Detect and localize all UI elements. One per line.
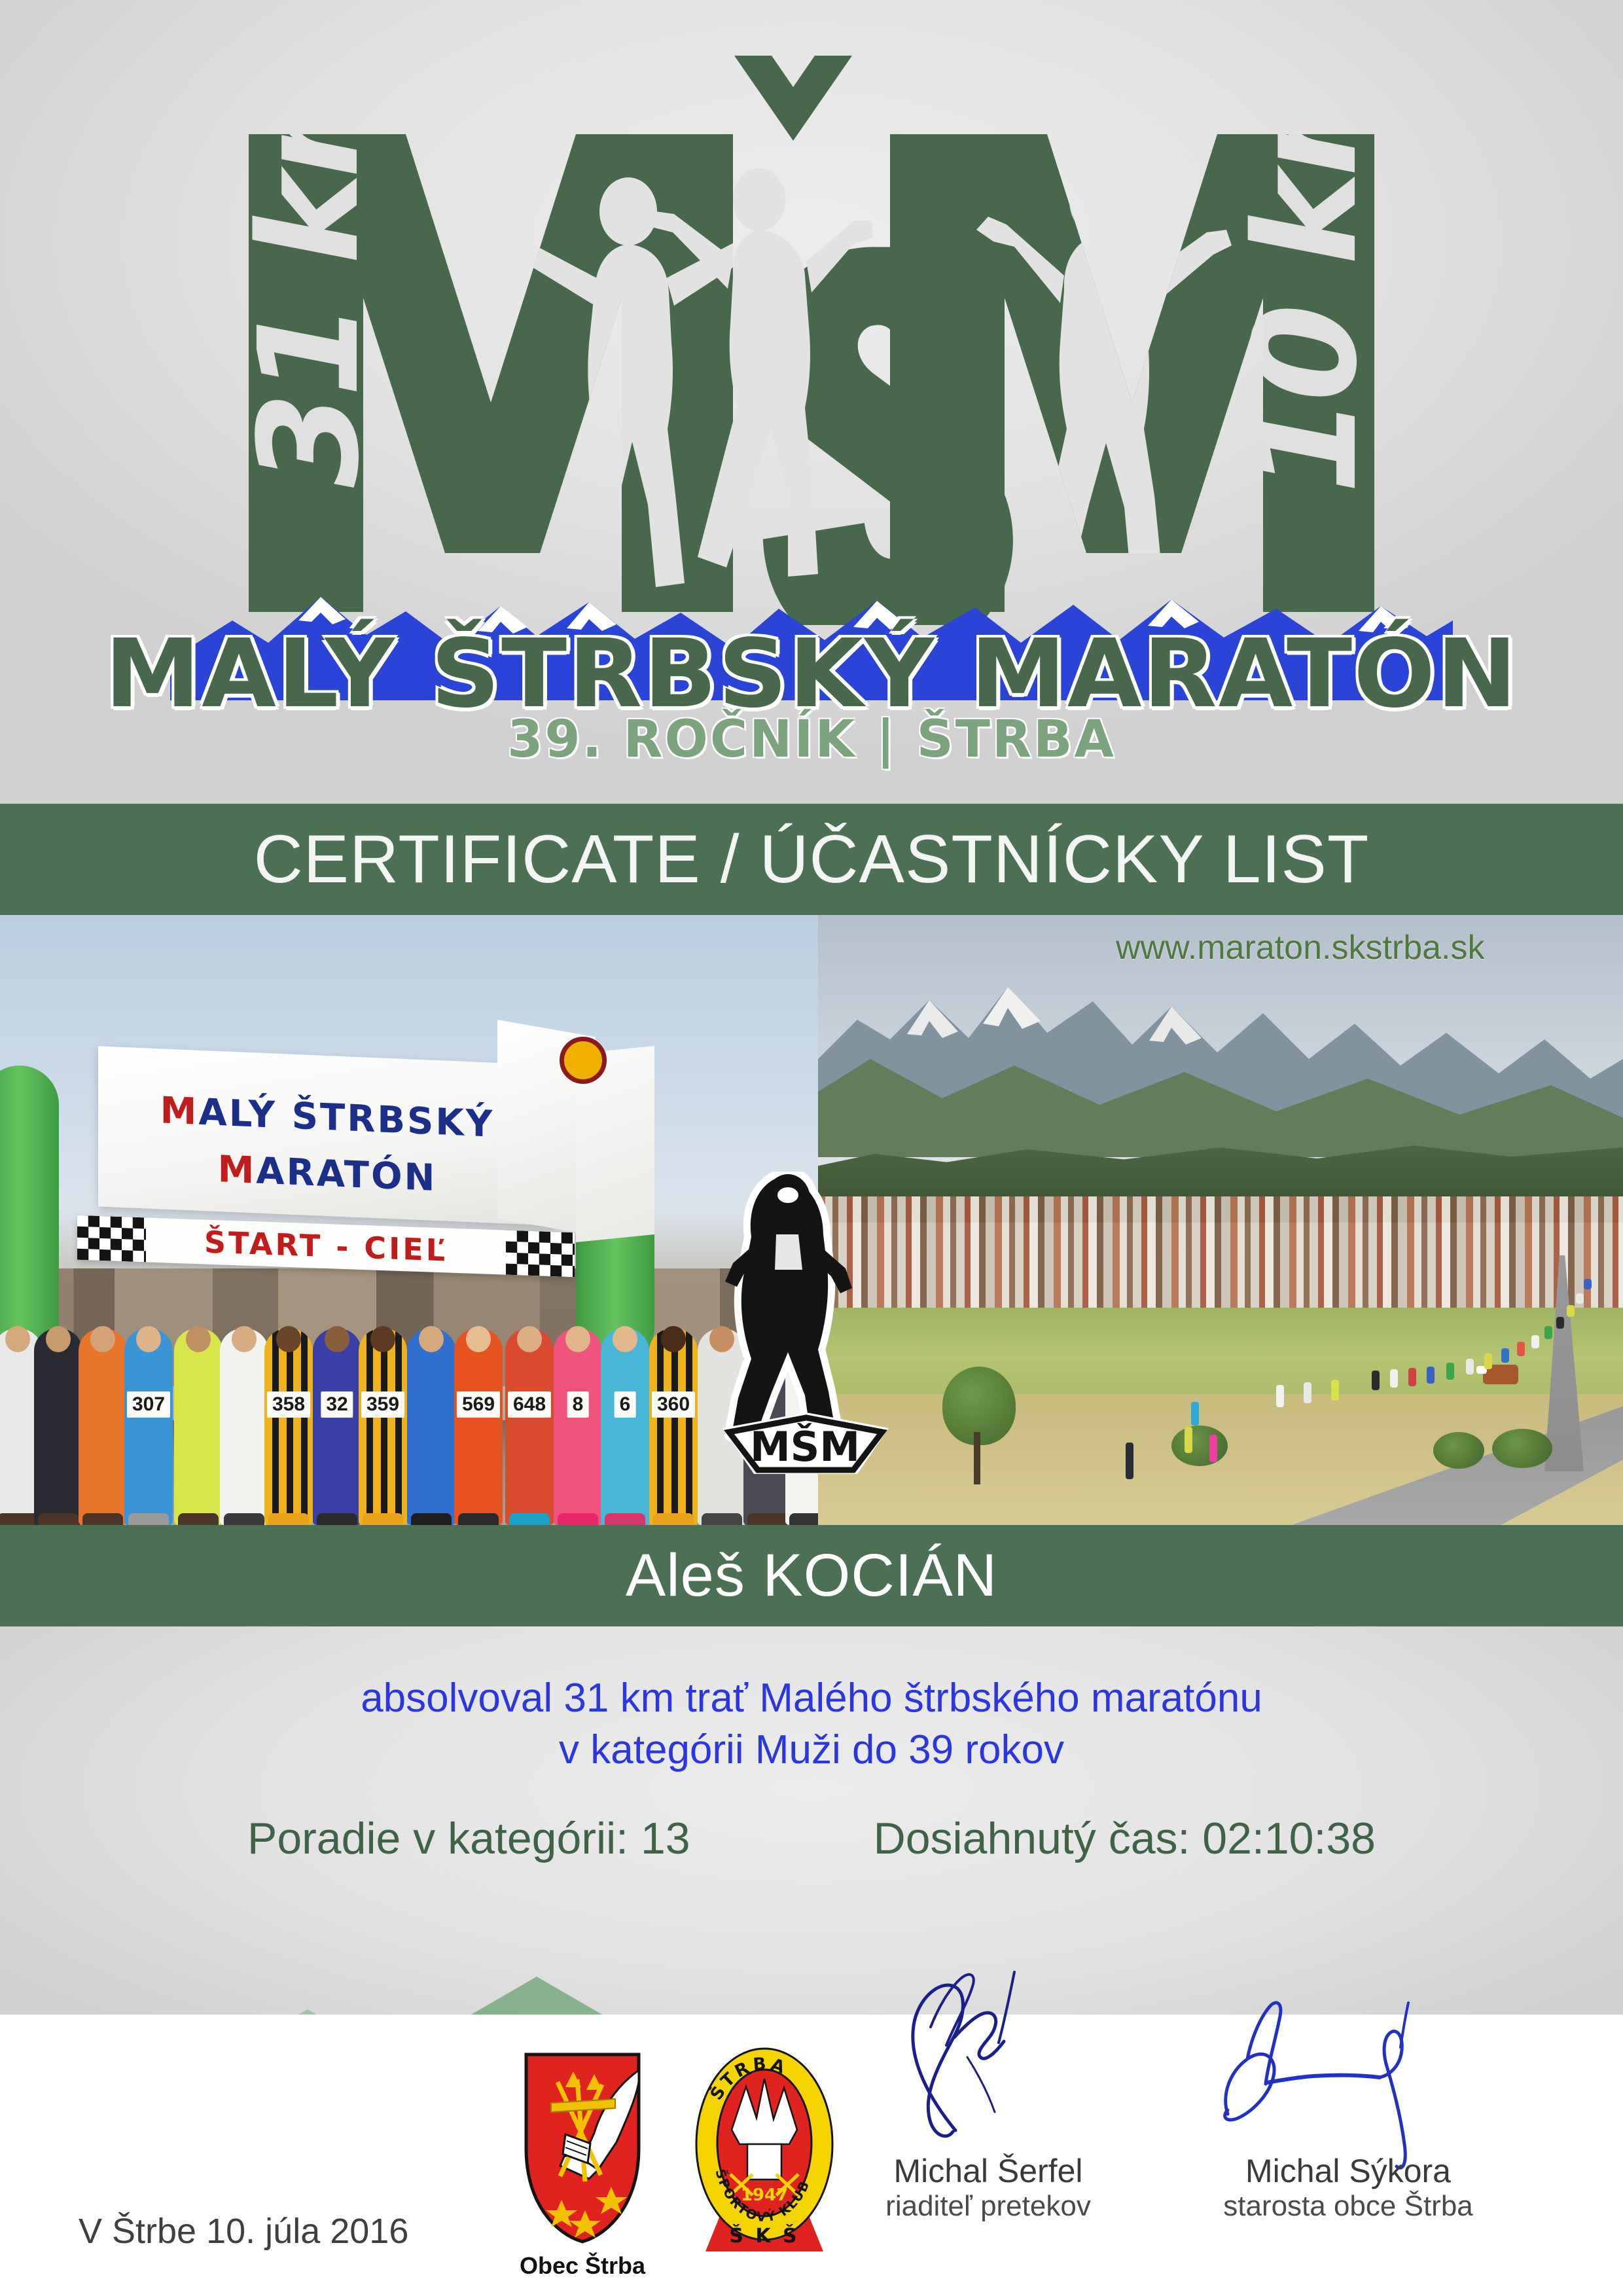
runner: [1576, 1293, 1584, 1304]
signature-mark-sykora: [1204, 1975, 1479, 2172]
club-badge: ŠTRBA ŠPORTOVÝ KLUB 1947 Š K Š: [692, 2046, 836, 2255]
club-badge-year: 1947: [741, 2185, 788, 2205]
bush: [1492, 1429, 1552, 1468]
runner: [1544, 1326, 1552, 1339]
signature-block-race-director: Michal Šerfel riaditeľ pretekov: [870, 2152, 1106, 2223]
category-rank: Poradie v kategórii: 13: [247, 1813, 690, 1864]
club-badge-initials: Š K Š: [729, 2223, 799, 2248]
event-subtitle: 39. ROČNÍK | ŠTRBA: [0, 710, 1623, 769]
certificate-page: 31 km: [0, 0, 1623, 2296]
certificate-title-band: CERTIFICATE / ÚČASTNÍCKY LIST: [0, 804, 1623, 915]
runner: [1390, 1369, 1398, 1388]
participant-name-band: Aleš KOCIÁN: [0, 1525, 1623, 1626]
bib-number: 648: [508, 1391, 551, 1418]
runner: [1446, 1363, 1454, 1380]
village-rooftops: [818, 1196, 1623, 1321]
runner: [1209, 1435, 1217, 1462]
logo-hero: 31 km: [0, 0, 1623, 804]
runner: [1408, 1368, 1416, 1386]
msm-letters-svg: 31 km: [170, 36, 1453, 625]
description-line-2: v kategórii Muži do 39 rokov: [0, 1724, 1623, 1776]
start-finish-text: ŠTART - CIEĽ: [204, 1225, 448, 1268]
participation-description: absolvoval 31 km trať Malého štrbského m…: [0, 1672, 1623, 1776]
signatory-name: Michal Šerfel: [870, 2152, 1106, 2190]
runner: [1372, 1371, 1380, 1390]
checker-flag-left: [77, 1215, 146, 1263]
msm-badge-text: MŠM: [750, 1423, 860, 1471]
spectator: [1126, 1443, 1133, 1479]
issue-date: V Štrbe 10. júla 2016: [79, 2211, 408, 2251]
bib-number: 307: [127, 1391, 170, 1418]
runner: [1584, 1279, 1592, 1289]
runner: [1331, 1380, 1339, 1401]
photo-course-landscape: www.maraton.skstrba.sk: [818, 915, 1623, 1525]
runner: [1304, 1382, 1311, 1403]
signatory-role: riaditeľ pretekov: [870, 2190, 1106, 2223]
obec-strba-shield-icon: [517, 2051, 648, 2247]
finish-time: Dosiahnutý čas: 02:10:38: [874, 1813, 1376, 1864]
result-row: Poradie v kategórii: 13 Dosiahnutý čas: …: [0, 1813, 1623, 1864]
runner: [1276, 1385, 1284, 1407]
certificate-title: CERTIFICATE / ÚČASTNÍCKY LIST: [254, 821, 1370, 899]
footer: V Štrbe 10. júla 2016: [0, 2015, 1623, 2296]
participant-name: Aleš KOCIÁN: [626, 1541, 997, 1610]
runner: [1191, 1402, 1199, 1426]
photo-start-line: MALÝ ŠTRBSKÝ MARATÓN ŠTART - CIEĽ 307 35…: [0, 915, 818, 1525]
runner: [1517, 1342, 1525, 1356]
arch-line-1: MALÝ ŠTRBSKÝ: [98, 1086, 556, 1148]
lone-tree: [936, 1367, 1021, 1484]
bib-number: 360: [652, 1391, 695, 1418]
municipality-crest: Obec Štrba: [517, 2051, 648, 2247]
runner-crowd: 307 358 32 359 569 648 8 6 360: [0, 1308, 818, 1525]
runner: [1501, 1348, 1509, 1363]
bib-number: 358: [267, 1391, 310, 1418]
bib-number: 32: [321, 1391, 353, 1418]
bib-number: 8: [567, 1391, 589, 1418]
bush: [1433, 1432, 1484, 1469]
signatory-name: Michal Sýkora: [1204, 2152, 1492, 2190]
checker-flag-right: [506, 1230, 575, 1278]
bush: [1171, 1426, 1228, 1466]
sponsor-flag-badge: [560, 1037, 607, 1084]
runner: [1567, 1305, 1575, 1317]
sks-strba-badge-icon: ŠTRBA ŠPORTOVÝ KLUB 1947 Š K Š: [692, 2046, 836, 2255]
runner: [1466, 1359, 1474, 1374]
runner: [1484, 1354, 1492, 1369]
arch-line-2: MARATÓN: [98, 1143, 556, 1204]
crest-label: Obec Štrba: [520, 2252, 645, 2280]
tatra-mountains: [818, 961, 1623, 1157]
signatory-role: starosta obce Štrba: [1204, 2190, 1492, 2223]
runner: [1185, 1427, 1192, 1453]
signature-mark-serfel: [870, 1946, 1086, 2142]
signature-block-mayor: Michal Sýkora starosta obce Štrba: [1204, 2152, 1492, 2223]
bib-number: 6: [615, 1391, 636, 1418]
bib-number: 569: [457, 1391, 500, 1418]
website-url: www.maraton.skstrba.sk: [1116, 928, 1613, 967]
msm-runner-badge: MŠM: [720, 1172, 890, 1479]
runner: [1556, 1317, 1564, 1329]
description-line-1: absolvoval 31 km trať Malého štrbského m…: [0, 1672, 1623, 1724]
start-arch-banner: MALÝ ŠTRBSKÝ MARATÓN: [98, 1046, 556, 1225]
bib-number: 359: [361, 1391, 404, 1418]
runner: [1531, 1335, 1539, 1348]
msm-logo: 31 km: [170, 36, 1453, 625]
svg-text:10 km: 10 km: [1224, 36, 1388, 494]
runner: [1427, 1367, 1435, 1384]
svg-text:31 km: 31 km: [229, 40, 389, 488]
